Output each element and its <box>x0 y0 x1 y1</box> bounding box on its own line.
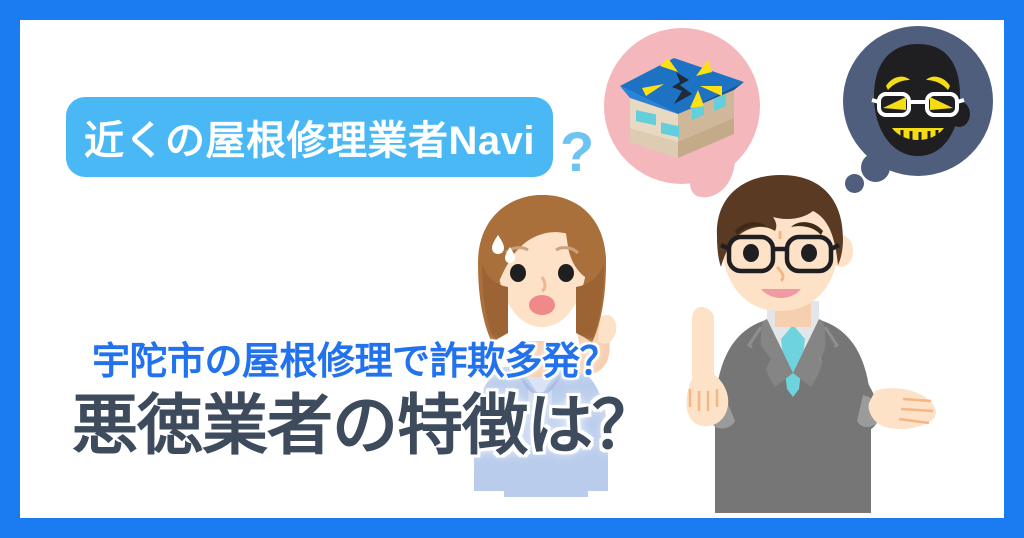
site-logo-badge[interactable]: 近くの屋根修理業者Navi <box>66 97 553 177</box>
banner-canvas: 近くの屋根修理業者Navi ? <box>20 20 1004 518</box>
pointing-businessman-icon <box>663 175 953 515</box>
banner-title: 悪徳業者の特徴は？ <box>72 372 657 468</box>
damaged-roof-house-icon <box>612 42 752 162</box>
site-logo-label: 近くの屋根修理業者Navi <box>84 108 535 166</box>
villain-thought-bubble <box>843 26 993 176</box>
scammer-villain-face-icon <box>866 42 970 160</box>
house-speech-bubble <box>604 28 760 184</box>
question-mark-decoration: ? <box>560 124 594 180</box>
banner-frame: 近くの屋根修理業者Navi ? <box>0 0 1024 538</box>
